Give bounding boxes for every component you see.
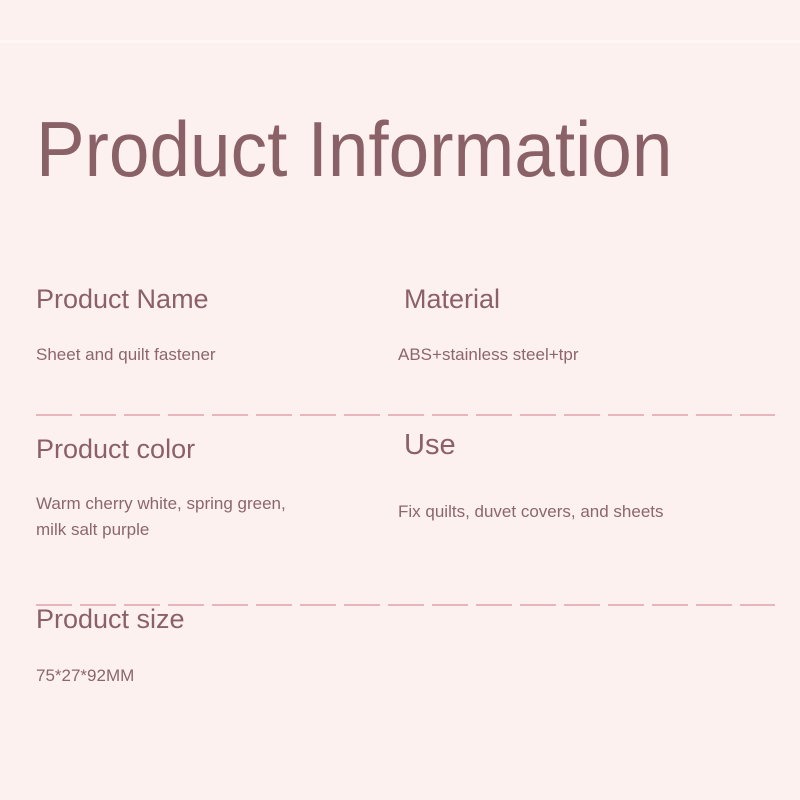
section-divider — [36, 604, 775, 606]
spec-value: Sheet and quilt fastener — [36, 342, 386, 368]
spec-label: Product color — [36, 432, 386, 466]
product-information-sheet: Product Information Product Name Sheet a… — [0, 0, 800, 800]
spec-item-material: Material ABS+stainless steel+tpr — [398, 282, 778, 368]
spec-label: Material — [404, 282, 778, 316]
spec-value: Fix quilts, duvet covers, and sheets — [398, 499, 778, 525]
spec-item-product-name: Product Name Sheet and quilt fastener — [36, 282, 386, 368]
spec-row: Product size 75*27*92MM — [0, 602, 800, 722]
spec-label: Product size — [36, 602, 386, 636]
spec-item-product-size: Product size 75*27*92MM — [36, 602, 386, 689]
spec-value: 75*27*92MM — [36, 663, 386, 689]
spec-value: Warm cherry white, spring green, milk sa… — [36, 491, 286, 543]
spec-item-product-color: Product color Warm cherry white, spring … — [36, 432, 386, 543]
spec-row: Product color Warm cherry white, spring … — [0, 432, 800, 602]
page-title: Product Information — [36, 104, 672, 194]
section-divider — [36, 414, 775, 416]
spec-label: Product Name — [36, 282, 386, 316]
spec-item-use: Use Fix quilts, duvet covers, and sheets — [398, 432, 778, 525]
specification-grid: Product Name Sheet and quilt fastener Ma… — [0, 282, 800, 722]
spec-value: ABS+stainless steel+tpr — [398, 342, 778, 368]
spec-label: Use — [404, 428, 778, 462]
spec-row: Product Name Sheet and quilt fastener Ma… — [0, 282, 800, 432]
